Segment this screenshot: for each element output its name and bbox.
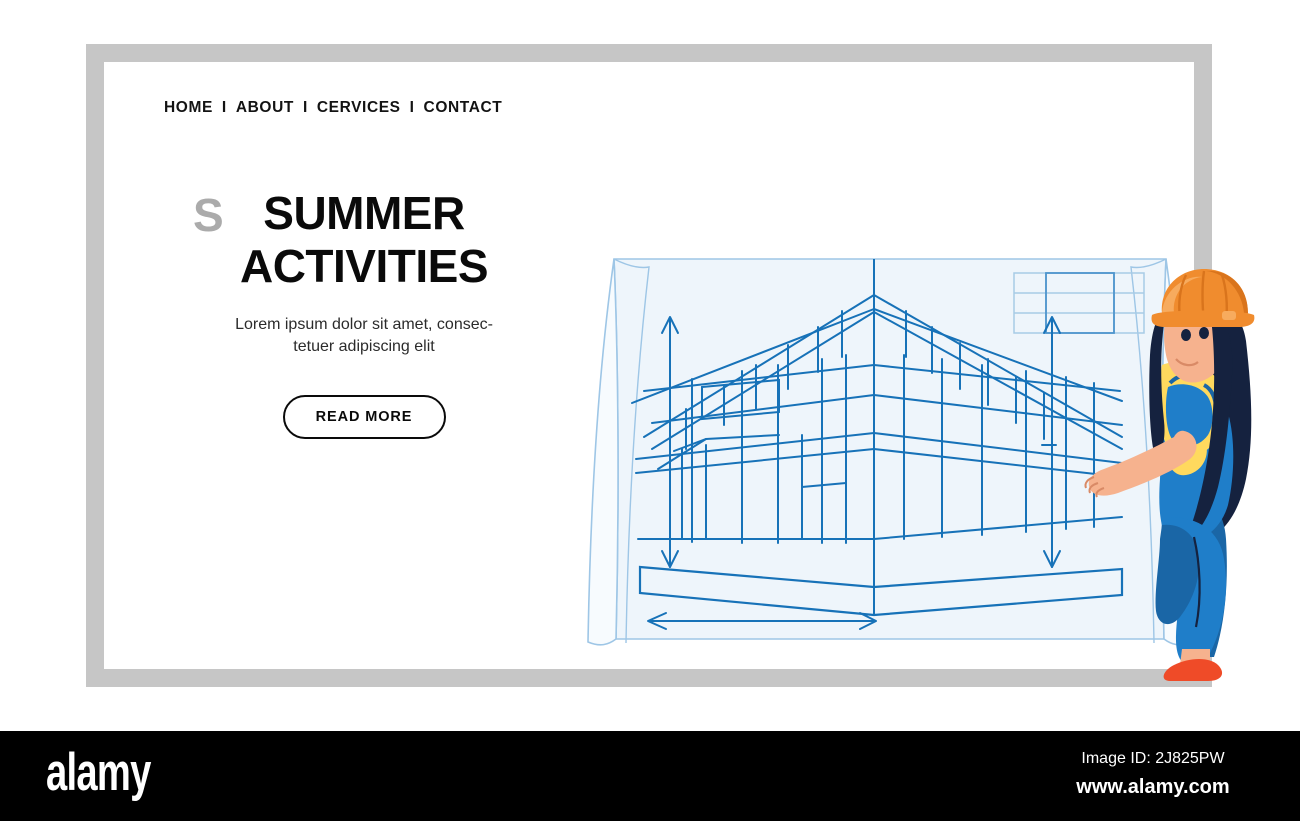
hero-section: S SUMMER ACTIVITIES Lorem ipsum dolor si… — [164, 187, 564, 439]
page-canvas: HOME I ABOUT I CERVICES I CONTACT S SUMM… — [104, 62, 1194, 669]
nav-separator: I — [294, 99, 317, 117]
architect-blueprint-illustration — [574, 187, 1294, 687]
nav-separator: I — [401, 99, 424, 117]
footer-meta: Image ID: 2J825PW www.alamy.com — [1028, 747, 1278, 801]
alamy-logo: alamy — [46, 746, 151, 799]
nav-separator: I — [213, 99, 236, 117]
character-shoe — [1164, 659, 1222, 681]
page-frame: HOME I ABOUT I CERVICES I CONTACT S SUMM… — [86, 44, 1212, 687]
page-title-line-2: ACTIVITIES — [164, 240, 564, 293]
read-more-button[interactable]: READ MORE — [283, 395, 446, 439]
main-navigation: HOME I ABOUT I CERVICES I CONTACT — [164, 99, 502, 117]
character-eye — [1181, 329, 1191, 341]
page-title-line-1: SUMMER — [164, 187, 564, 240]
screenshot-stage: HOME I ABOUT I CERVICES I CONTACT S SUMM… — [0, 0, 1300, 821]
hard-hat-brim — [1152, 311, 1255, 328]
website-label: www.alamy.com — [1028, 773, 1278, 801]
nav-item-about[interactable]: ABOUT — [236, 99, 294, 117]
nav-item-cervices[interactable]: CERVICES — [317, 99, 401, 117]
nav-item-contact[interactable]: CONTACT — [424, 99, 503, 117]
hero-subtitle-line-1: Lorem ipsum dolor sit amet, consec- — [164, 314, 564, 336]
page-title: S SUMMER ACTIVITIES — [164, 187, 564, 293]
alamy-watermark-bar: alamy Image ID: 2J825PW www.alamy.com — [0, 731, 1300, 821]
hero-illustration — [574, 187, 1294, 687]
nav-item-home[interactable]: HOME — [164, 99, 213, 117]
image-id-label: Image ID: 2J825PW — [1028, 747, 1278, 771]
blueprint-sheet — [588, 259, 1192, 645]
hero-subtitle: Lorem ipsum dolor sit amet, consec- tetu… — [164, 314, 564, 358]
hero-subtitle-line-2: tetuer adipiscing elit — [164, 336, 564, 358]
